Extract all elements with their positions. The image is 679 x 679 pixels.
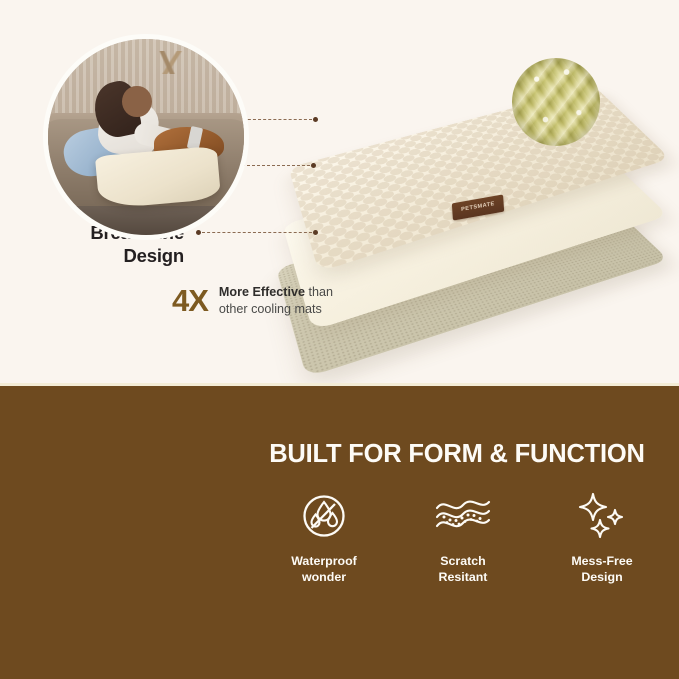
waterproof-droplet-icon [301, 487, 347, 545]
feature-scratch-resistant: Scratch Resitant [401, 487, 525, 585]
claim-headline: More Effective [219, 285, 305, 299]
feature-waterproof: Waterproof wonder [262, 487, 386, 585]
connector-dot-end-icon [313, 117, 318, 122]
claim-multiplier: 4X [172, 285, 208, 316]
product-infographic: PETSMATE Cooling Fabric Soft Lining Brea… [0, 0, 679, 679]
feature-mess-free-label: Mess-Free Design [571, 554, 632, 585]
sparkles-icon [576, 487, 628, 545]
effectiveness-claim: 4X More Effective than other cooling mat… [172, 284, 333, 317]
fabric-closeup-inset [512, 58, 600, 146]
feature-waterproof-label: Waterproof wonder [291, 554, 357, 585]
feature-mess-free: Mess-Free Design [540, 487, 664, 585]
claim-subline: other cooling mats [219, 301, 333, 318]
lifestyle-photo [43, 34, 249, 240]
connector-dot-end-icon [311, 163, 316, 168]
lifestyle-photo-scene [48, 39, 244, 235]
bottom-section-heading: BUILT FOR FORM & FUNCTION [252, 440, 662, 469]
feature-list: Waterproof wonder [262, 487, 664, 585]
claim-copy: More Effective than other cooling mats [219, 284, 333, 317]
feature-scratch-resistant-label: Scratch Resitant [439, 554, 488, 585]
wavy-fabric-icon [432, 487, 494, 545]
photo-floor [48, 206, 244, 235]
photo-wall-art [126, 51, 212, 75]
connector-dot-end-icon [313, 230, 318, 235]
photo-person-head [122, 86, 151, 117]
claim-connector-word: than [305, 285, 333, 299]
